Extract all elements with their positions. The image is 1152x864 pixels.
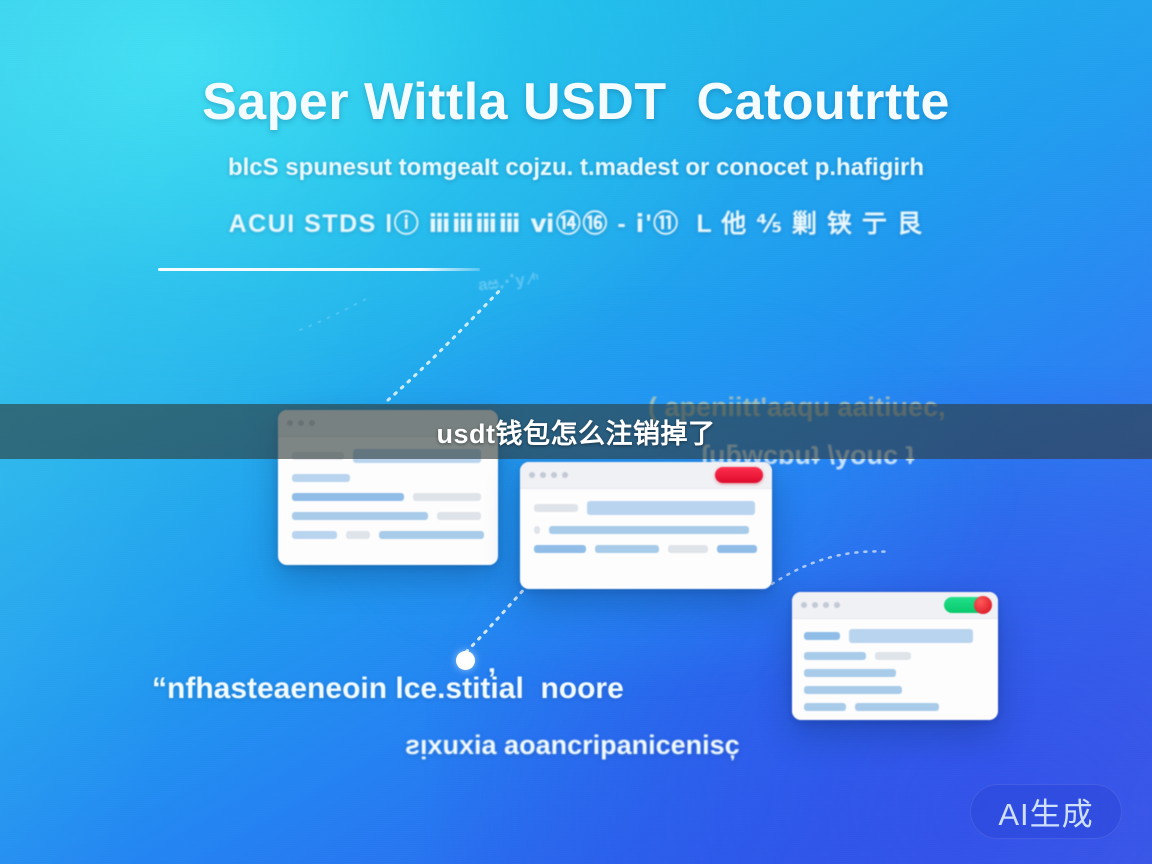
hero-subtitle: blcS spunesut tomgeaIt cojzu. t.madest o… <box>0 154 1152 182</box>
window-dots-icon <box>529 472 568 478</box>
window-dots-icon <box>801 602 840 608</box>
ai-generated-badge[interactable]: AI生成 <box>970 784 1122 839</box>
caption-title: usdt钱包怎么注销掉了 <box>437 412 716 451</box>
card-right-body <box>792 619 998 720</box>
connector-node-dot <box>456 651 475 670</box>
hero-text-block: Saper Wittla USDT Catoutrtte blcS spunes… <box>0 0 1152 240</box>
hero-divider-rule <box>158 268 480 271</box>
delete-pill-button <box>715 467 763 483</box>
hero-tertiary-line: ACUI STDS lⓘ ⅲⅲⅲⅲ ⅵ⑭⑯ - ⅰ'⑪ L 他 ⅘ 剿 铗 亍 … <box>0 204 1152 240</box>
caption-overlay-band: usdt钱包怎么注销掉了 <box>0 404 1152 459</box>
ui-card-center <box>520 462 772 589</box>
bottom-text-line-2: ƨᴉxuxia aoancripanicenisc̦ <box>405 730 740 761</box>
card-center-body <box>520 489 772 578</box>
card-center-header <box>520 462 772 489</box>
hero-title: Saper Wittla USDT Catoutrtte <box>0 72 1152 132</box>
ui-card-right <box>792 592 998 720</box>
bottom-text-line-1: “nfhasteaeneoin lce.stit̕ial noore <box>152 672 624 706</box>
card-right-header <box>792 592 998 619</box>
image-canvas: Saper Wittla USDT Catoutrtte blcS spunes… <box>0 0 1152 864</box>
close-knob-icon <box>974 596 992 614</box>
ai-generated-badge-label: AI生成 <box>998 789 1093 834</box>
